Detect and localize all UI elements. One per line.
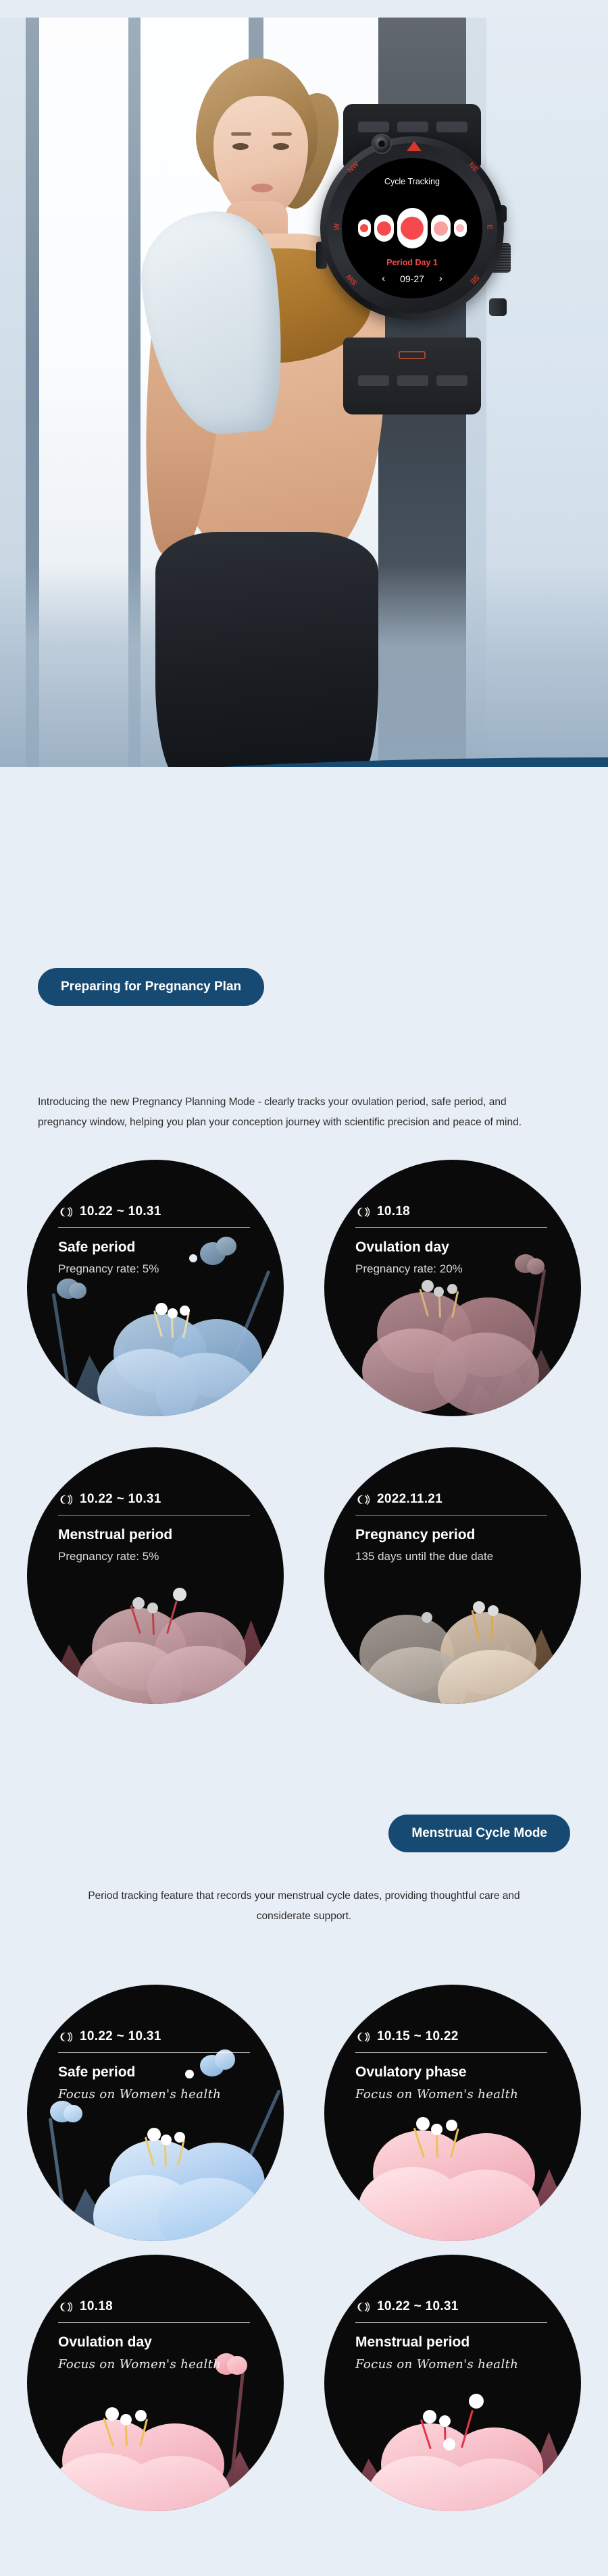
cycle-dot-1[interactable] <box>358 219 371 237</box>
card-title: Safe period <box>58 2064 135 2081</box>
card-date-row: 10.18 <box>357 1204 410 1219</box>
card-date: 10.18 <box>80 2299 113 2314</box>
moon-phase-icon <box>59 2030 74 2044</box>
watch-screen[interactable]: Cycle Tracking <box>342 158 482 298</box>
cycle-dot-4[interactable] <box>431 215 451 242</box>
card-subtitle: Focus on Women's health <box>355 2087 518 2101</box>
hero-section: NW W SW NE E SE Cycle Tracking <box>0 18 608 767</box>
card-divider <box>58 1227 250 1228</box>
bezel-marker-triangle-icon <box>407 141 422 151</box>
card-date: 2022.11.21 <box>377 1492 442 1507</box>
card-date: 10.22 ~ 10.31 <box>80 2029 161 2044</box>
watch-status-label: Period Day 1 <box>342 258 482 267</box>
card-title: Ovulation day <box>58 2334 152 2351</box>
watch-strap-bottom <box>343 338 481 414</box>
model-leggings <box>155 532 378 767</box>
bezel-mark-w: W <box>333 223 341 230</box>
pill-menstrual-cycle-mode[interactable]: Menstrual Cycle Mode <box>388 1815 570 1852</box>
moon-phase-icon <box>357 2300 371 2314</box>
pregnancy-plan-paragraph: Introducing the new Pregnancy Planning M… <box>38 1092 551 1133</box>
card-title: Ovulation day <box>355 1239 449 1256</box>
card-date: 10.22 ~ 10.31 <box>377 2299 459 2314</box>
card-subtitle: Focus on Women's health <box>355 2357 518 2371</box>
cycle-dots <box>342 207 482 250</box>
card-date-row: 10.22 ~ 10.31 <box>59 1492 161 1507</box>
moon-phase-icon <box>357 2030 371 2044</box>
watch-card-pregnancy-period[interactable]: 2022.11.21 Pregnancy period 135 days unt… <box>324 1447 581 1704</box>
card-subtitle: Focus on Women's health <box>58 2357 221 2371</box>
moon-phase-icon <box>59 1493 74 1507</box>
watch-button-bottom[interactable] <box>489 298 507 316</box>
pill-preparing-for-pregnancy-plan[interactable]: Preparing for Pregnancy Plan <box>38 968 264 1006</box>
pregnancy-plan-section: Preparing for Pregnancy Plan Introducing… <box>0 936 608 1715</box>
card-subtitle: 135 days until the due date <box>355 1550 493 1563</box>
watch-card-ovulation-day[interactable]: 10.18 Ovulation day Pregnancy rate: 20% <box>324 1160 581 1416</box>
card-divider <box>58 2322 250 2323</box>
card-date: 10.22 ~ 10.31 <box>80 1492 161 1507</box>
card-title: Pregnancy period <box>355 1527 475 1543</box>
cycle-dot-3-active[interactable] <box>397 208 428 248</box>
card-date-row: 10.22 ~ 10.31 <box>59 1204 161 1219</box>
watch-case: NW W SW NE E SE Cycle Tracking <box>320 136 504 320</box>
moon-phase-icon <box>357 1205 371 1219</box>
hero-banner: New Women's Health Model Period tracking… <box>0 757 608 767</box>
card-divider <box>355 2052 547 2053</box>
moon-phase-icon <box>59 2300 74 2314</box>
card-subtitle: Focus on Women's health <box>58 2087 221 2101</box>
cycle-cards-row-2: 10.18 Ovulation day Focus on Women's hea… <box>0 2255 608 2525</box>
card-divider <box>355 2322 547 2323</box>
model-brow-left <box>231 132 251 136</box>
card-date-row: 10.18 <box>59 2299 113 2314</box>
card-date-row: 2022.11.21 <box>357 1492 442 1507</box>
watch-screen-title: Cycle Tracking <box>342 177 482 186</box>
card-divider <box>355 1515 547 1515</box>
card-divider <box>355 1227 547 1228</box>
card-title: Ovulatory phase <box>355 2064 467 2081</box>
card-date-row: 10.15 ~ 10.22 <box>357 2029 459 2044</box>
chevron-left-icon[interactable]: ‹ <box>382 273 385 284</box>
watch-card-cycle-menstrual-period[interactable]: 10.22 ~ 10.31 Menstrual period Focus on … <box>324 2255 581 2511</box>
top-band <box>0 0 608 18</box>
menstrual-cycle-paragraph: Period tracking feature that records you… <box>81 1886 527 1927</box>
watch-card-ovulatory-phase[interactable]: 10.15 ~ 10.22 Ovulatory phase Focus on W… <box>324 1985 581 2241</box>
cycle-cards-row-1: 10.22 ~ 10.31 Safe period Focus on Women… <box>0 1985 608 2255</box>
card-date: 10.18 <box>377 1204 410 1219</box>
watch-card-cycle-safe-period[interactable]: 10.22 ~ 10.31 Safe period Focus on Women… <box>27 1985 284 2241</box>
smartwatch: NW W SW NE E SE Cycle Tracking <box>278 104 549 414</box>
watch-card-cycle-ovulation-day[interactable]: 10.18 Ovulation day Focus on Women's hea… <box>27 2255 284 2511</box>
chevron-right-icon[interactable]: › <box>439 273 442 284</box>
card-title: Menstrual period <box>355 2334 470 2351</box>
card-divider <box>58 1515 250 1515</box>
card-divider <box>58 2052 250 2053</box>
card-date-row: 10.22 ~ 10.31 <box>357 2299 459 2314</box>
pregnancy-cards-row-2: 10.22 ~ 10.31 Menstrual period Pregnancy… <box>0 1447 608 1717</box>
watch-card-safe-period[interactable]: 10.22 ~ 10.31 Safe period Pregnancy rate… <box>27 1160 284 1416</box>
cycle-dot-5[interactable] <box>454 219 467 237</box>
card-title: Safe period <box>58 1239 135 1256</box>
moon-phase-icon <box>59 1205 74 1219</box>
watch-card-menstrual-period[interactable]: 10.22 ~ 10.31 Menstrual period Pregnancy… <box>27 1447 284 1704</box>
menstrual-cycle-section: Menstrual Cycle Mode Period tracking fea… <box>0 1715 608 2576</box>
bezel-mark-e: E <box>485 224 493 229</box>
cycle-dot-2[interactable] <box>374 215 394 242</box>
card-subtitle: Pregnancy rate: 5% <box>58 1550 159 1563</box>
card-subtitle: Pregnancy rate: 20% <box>355 1262 463 1276</box>
model-eye-left <box>232 143 249 150</box>
page-root: NW W SW NE E SE Cycle Tracking <box>0 0 608 2576</box>
card-title: Menstrual period <box>58 1527 172 1543</box>
watch-date: 09-27 <box>400 273 424 284</box>
card-date: 10.15 ~ 10.22 <box>377 2029 459 2044</box>
model-lips <box>251 184 273 192</box>
card-date-row: 10.22 ~ 10.31 <box>59 2029 161 2044</box>
moon-phase-icon <box>357 1493 371 1507</box>
card-date: 10.22 ~ 10.31 <box>80 1204 161 1219</box>
bezel-mark-nw: NW <box>346 160 360 174</box>
card-subtitle: Pregnancy rate: 5% <box>58 1262 159 1276</box>
pregnancy-cards-row-1: 10.22 ~ 10.31 Safe period Pregnancy rate… <box>0 1160 608 1430</box>
watch-sensor-icon <box>372 134 392 154</box>
